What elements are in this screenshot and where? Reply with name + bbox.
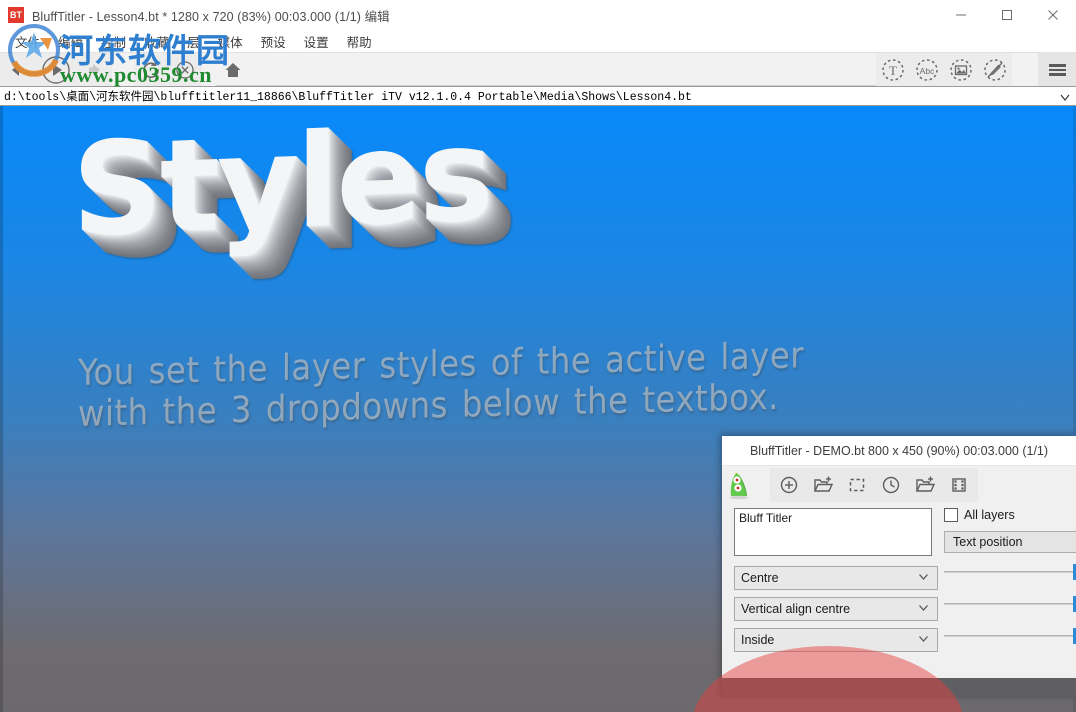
vertical-align-dropdown[interactable]: Vertical align centre xyxy=(734,597,938,621)
horizontal-align-value: Centre xyxy=(741,571,779,585)
window-title: BluffTitler - Lesson4.bt * 1280 x 720 (8… xyxy=(32,6,390,25)
nav-group xyxy=(0,53,112,87)
menu-item-favorites[interactable]: 收藏 xyxy=(135,30,178,53)
play-icon[interactable] xyxy=(34,53,78,87)
svg-text:Abc: Abc xyxy=(920,66,935,76)
layer-text-input[interactable]: Bluff Titler xyxy=(734,508,932,556)
chevron-down-icon xyxy=(917,632,930,648)
inset-titlebar: BluffTitler - DEMO.bt 800 x 450 (90%) 00… xyxy=(722,436,1076,466)
menu-item-settings[interactable]: 设置 xyxy=(295,30,338,53)
all-layers-checkbox[interactable] xyxy=(944,508,958,522)
font-layer-icon[interactable]: Abc xyxy=(910,53,944,87)
all-layers-label: All layers xyxy=(964,508,1015,522)
inset-statusbar xyxy=(722,678,1076,698)
subtitle-layer: You set the layer styles of the active l… xyxy=(78,335,868,435)
toolbar-right-group: T Abc xyxy=(876,53,1076,87)
maximize-button[interactable] xyxy=(984,0,1030,30)
open-add-folder-icon[interactable] xyxy=(806,468,840,502)
inset-body: Bluff Titler Centre Vertical align centr… xyxy=(722,504,1076,698)
clock-icon[interactable] xyxy=(874,468,908,502)
preview-canvas[interactable]: Styles You set the layer styles of the a… xyxy=(0,106,1076,712)
slider-track xyxy=(944,603,1076,605)
chevron-down-icon xyxy=(917,601,930,617)
close-button[interactable] xyxy=(1030,0,1076,30)
home-icon[interactable] xyxy=(216,53,250,87)
toolbar-spacer-1 xyxy=(112,53,134,87)
menu-item-layer[interactable]: 层 xyxy=(178,30,209,53)
menu-item-help[interactable]: 帮助 xyxy=(338,30,381,53)
menu-item-file[interactable]: 文件 xyxy=(6,30,49,53)
text-position-label: Text position xyxy=(953,535,1022,549)
transport-group xyxy=(134,53,202,87)
title-3d-layer: Styles xyxy=(72,128,632,288)
blufftitler-mascot-icon xyxy=(726,468,762,502)
menu-item-edit[interactable]: 编辑 xyxy=(49,30,92,53)
refresh-icon[interactable] xyxy=(134,53,168,87)
position-x-slider[interactable] xyxy=(944,564,1076,580)
titlebar: BT BluffTitler - Lesson4.bt * 1280 x 720… xyxy=(0,0,1076,30)
all-layers-checkbox-row[interactable]: All layers xyxy=(944,508,1015,522)
menu-item-media[interactable]: 媒体 xyxy=(209,30,252,53)
path-bar[interactable]: d:\tools\桌面\河东软件园\blufftitler11_18866\Bl… xyxy=(0,86,1076,106)
text-position-button[interactable]: Text position xyxy=(944,531,1076,553)
inset-toolbar xyxy=(722,466,1076,504)
minimize-button[interactable] xyxy=(938,0,984,30)
crop-marquee-icon[interactable] xyxy=(840,468,874,502)
menubar: 文件 编辑 控制 收藏 层 媒体 预设 设置 帮助 xyxy=(0,30,1076,52)
vertical-align-value: Vertical align centre xyxy=(741,602,850,616)
menu-item-presets[interactable]: 预设 xyxy=(252,30,295,53)
inside-outside-dropdown[interactable]: Inside xyxy=(734,628,938,652)
slider-track xyxy=(944,635,1076,637)
slider-track xyxy=(944,571,1076,573)
hamburger-menu[interactable] xyxy=(1038,53,1076,87)
hamburger-bar xyxy=(1049,69,1066,72)
effect-layer-icon[interactable] xyxy=(978,53,1012,87)
layer-buttons-group: T Abc xyxy=(876,53,1012,87)
inset-screenshot-window: BluffTitler - DEMO.bt 800 x 450 (90%) 00… xyxy=(722,436,1076,698)
hamburger-bar xyxy=(1049,73,1066,76)
toolbar-spacer-3 xyxy=(1012,53,1038,87)
film-strip-icon[interactable] xyxy=(942,468,976,502)
toolbar: T Abc xyxy=(0,52,1076,86)
chevron-down-icon xyxy=(917,570,930,586)
add-layer-icon[interactable] xyxy=(772,468,806,502)
forward-icon[interactable] xyxy=(78,53,112,87)
canvas-left-edge xyxy=(0,106,3,712)
stop-icon[interactable] xyxy=(168,53,202,87)
title-3d-text: Styles xyxy=(72,106,632,255)
svg-text:T: T xyxy=(889,63,897,78)
menu-item-control[interactable]: 控制 xyxy=(92,30,135,53)
app-icon: BT xyxy=(8,7,24,23)
position-z-slider[interactable] xyxy=(944,628,1076,644)
text-layer-icon[interactable]: T xyxy=(876,53,910,87)
hamburger-bar xyxy=(1049,64,1066,67)
toolbar-left-group xyxy=(0,53,250,87)
inside-outside-value: Inside xyxy=(741,633,774,647)
picture-layer-icon[interactable] xyxy=(944,53,978,87)
position-y-slider[interactable] xyxy=(944,596,1076,612)
application-window: BT BluffTitler - Lesson4.bt * 1280 x 720… xyxy=(0,0,1076,712)
path-input[interactable]: d:\tools\桌面\河东软件园\blufftitler11_18866\Bl… xyxy=(0,88,692,104)
text-style-dropdowns: Centre Vertical align centre Inside xyxy=(734,566,938,659)
back-icon[interactable] xyxy=(0,53,34,87)
inset-toolbar-buttons xyxy=(770,468,978,502)
window-controls xyxy=(938,0,1076,30)
inset-window-title: BluffTitler - DEMO.bt 800 x 450 (90%) 00… xyxy=(750,444,1048,458)
open-add-folder-2-icon[interactable] xyxy=(908,468,942,502)
toolbar-spacer-2 xyxy=(202,53,216,87)
horizontal-align-dropdown[interactable]: Centre xyxy=(734,566,938,590)
